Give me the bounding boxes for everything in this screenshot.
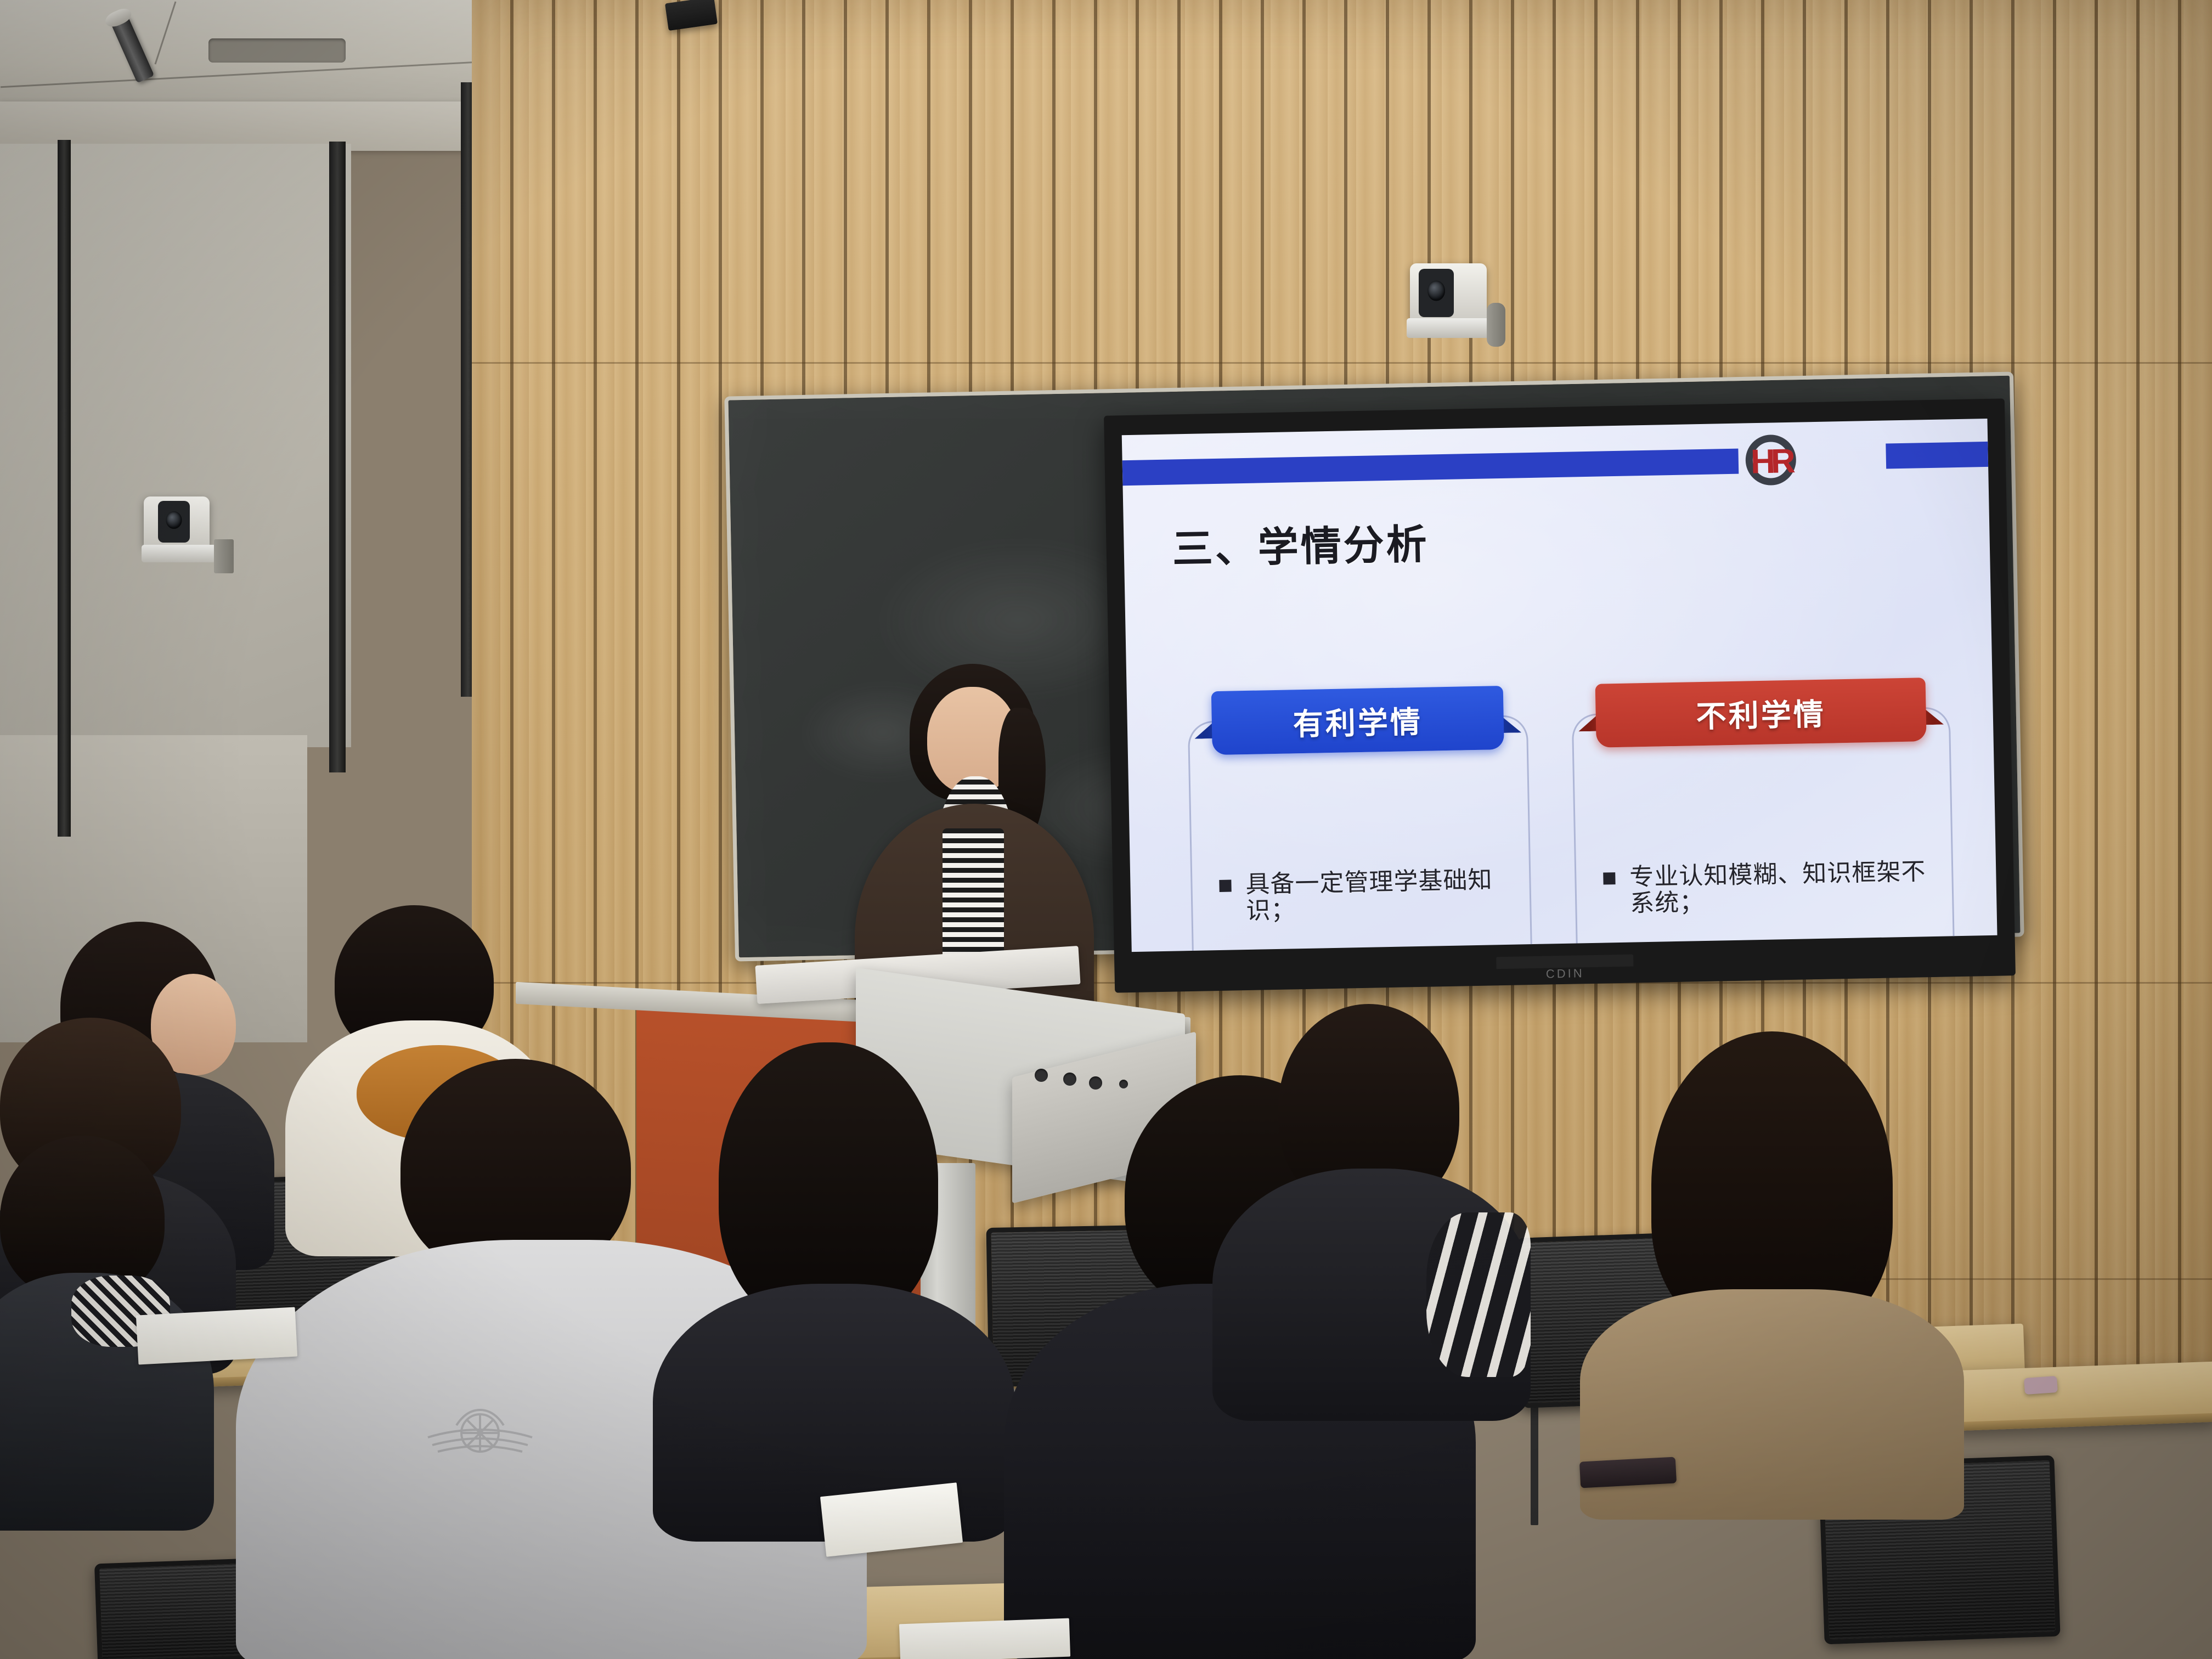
- student-tan-sweater: [1569, 1031, 1986, 1514]
- bullet-item: 主动学习意识不足；: [1605, 944, 1939, 952]
- phone-on-desk-right: [1579, 1457, 1677, 1488]
- classroom-photo: HR 三、学情分析 有利学情 具备一定管理学基础知识； 对新专业知识有好奇心；: [0, 0, 2212, 1659]
- ptz-camera-right: [1410, 263, 1514, 351]
- desk-edge: [1954, 1413, 2212, 1431]
- desk-row3-right: [1952, 1362, 2212, 1431]
- hr-logo: HR: [1745, 435, 1797, 486]
- column-favorable-heading: 有利学情: [1211, 686, 1504, 755]
- bullet-text: 对新专业知识有好奇心；: [1247, 951, 1517, 952]
- column-favorable-bullets: 具备一定管理学基础知识； 对新专业知识有好奇心； 个性且独立、务实且开放； 创新…: [1219, 867, 1520, 952]
- bullet-item: 专业认知模糊、知识框架不系统；: [1603, 859, 1938, 918]
- column-favorable: 有利学情 具备一定管理学基础知识； 对新专业知识有好奇心； 个性且独立、务实且开…: [1187, 685, 1537, 952]
- column-unfavorable-bullets: 专业认知模糊、知识框架不系统； 主动学习意识不足； 逻辑思维、批判思维能力欠佳；…: [1603, 859, 1942, 952]
- bullet-text: 具备一定管理学基础知识；: [1245, 867, 1515, 925]
- notebook-front: [899, 1618, 1070, 1659]
- wall-pillar-mid: [329, 142, 346, 772]
- student-sleeve-stripes: [1426, 1212, 1531, 1377]
- slide-title: 三、学情分析: [1172, 512, 1430, 575]
- left-wall-plaster: [0, 144, 351, 747]
- header-band-right: [1886, 442, 1988, 469]
- column-unfavorable: 不利学情 专业认知模糊、知识框架不系统； 主动学习意识不足； 逻辑思维、批判思维…: [1571, 677, 1960, 952]
- bullet-text: 专业认知模糊、知识框架不系统；: [1629, 859, 1938, 918]
- display-brand-label: CDIN: [1546, 966, 1584, 981]
- notebook-left: [136, 1307, 297, 1364]
- slide: HR 三、学情分析 有利学情 具备一定管理学基础知识； 对新专业知识有好奇心；: [1122, 419, 1997, 952]
- logo-hr-text: HR: [1750, 442, 1791, 481]
- bullet-item: 对新专业知识有好奇心；: [1221, 951, 1517, 952]
- bullet-item: 具备一定管理学基础知识；: [1219, 867, 1515, 926]
- column-unfavorable-heading: 不利学情: [1595, 678, 1927, 748]
- student-center-dark: [669, 1042, 998, 1536]
- bullet-square-icon: [1603, 872, 1615, 884]
- ptz-camera-left: [144, 496, 240, 573]
- jordan-wings-logo: [422, 1399, 538, 1465]
- header-band-left: [1122, 449, 1739, 486]
- student-striped-sleeve: [1212, 1004, 1531, 1421]
- bullet-text: 主动学习意识不足；: [1631, 945, 1854, 952]
- wall-pillar-left: [58, 140, 71, 837]
- presentation-display: HR 三、学情分析 有利学情 具备一定管理学基础知识； 对新专业知识有好奇心；: [1104, 398, 2016, 992]
- phone-on-desk-far-right: [2024, 1376, 2058, 1395]
- wood-seam-1: [472, 362, 2212, 364]
- desk-leg: [1531, 1388, 1538, 1525]
- bullet-square-icon: [1219, 880, 1231, 892]
